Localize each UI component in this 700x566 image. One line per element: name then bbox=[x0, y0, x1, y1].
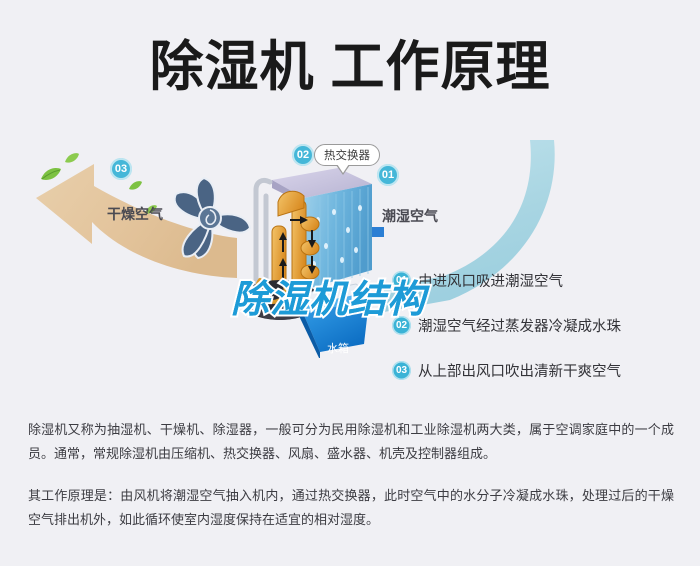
badge-01: 01 bbox=[377, 164, 399, 186]
leaf-icon bbox=[64, 152, 80, 164]
badge-03: 03 bbox=[110, 158, 132, 180]
step-list: 01 由进风口吸进潮湿空气 02 潮湿空气经过蒸发器冷凝成水珠 03 从上部出风… bbox=[392, 270, 682, 405]
infographic-page: 除湿机工作原理 bbox=[0, 0, 700, 566]
leaf-icon bbox=[128, 180, 143, 191]
badge-02: 02 bbox=[292, 144, 314, 166]
paragraph-2: 其工作原理是：由风机将潮湿空气抽入机内，通过热交换器，此时空气中的水分子冷凝成水… bbox=[28, 484, 674, 532]
step-text: 从上部出风口吹出清新干爽空气 bbox=[418, 360, 621, 381]
water-tank-label: 水箱 bbox=[327, 340, 349, 356]
paragraph-1: 除湿机又称为抽湿机、干燥机、除湿器，一般可分为民用除湿机和工业除湿机两大类，属于… bbox=[28, 418, 674, 466]
list-item: 01 由进风口吸进潮湿空气 bbox=[392, 270, 682, 291]
watermark-text: 除湿机结构 bbox=[231, 268, 426, 323]
list-item: 02 潮湿空气经过蒸发器冷凝成水珠 bbox=[392, 315, 682, 336]
humid-air-label: 潮湿空气 bbox=[382, 206, 438, 226]
page-title-part1: 除湿机 bbox=[150, 37, 315, 97]
leaf-icon bbox=[40, 166, 62, 182]
step-number: 03 bbox=[392, 361, 411, 380]
step-text: 潮湿空气经过蒸发器冷凝成水珠 bbox=[418, 315, 621, 336]
step-text: 由进风口吸进潮湿空气 bbox=[418, 270, 563, 291]
body-copy: 除湿机又称为抽湿机、干燥机、除湿器，一般可分为民用除湿机和工业除湿机两大类，属于… bbox=[28, 418, 674, 532]
page-title: 除湿机工作原理 bbox=[0, 22, 700, 101]
dry-air-label: 干燥空气 bbox=[107, 204, 163, 224]
list-item: 03 从上部出风口吹出清新干爽空气 bbox=[392, 360, 682, 381]
page-title-part2: 工作原理 bbox=[331, 37, 551, 97]
heat-exchanger-callout: 热交换器 bbox=[314, 144, 380, 166]
dehumidifier-unit-icon bbox=[238, 138, 378, 358]
